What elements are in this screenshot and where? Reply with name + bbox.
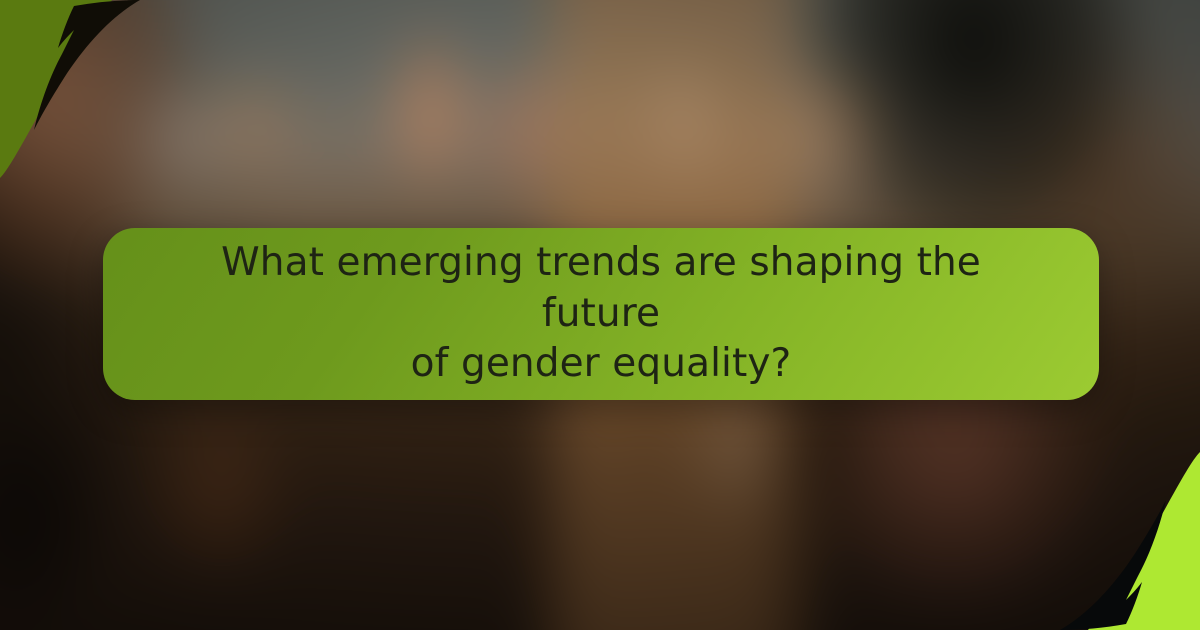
question-card: What emerging trends are shaping the fut… [103, 228, 1099, 400]
question-text: What emerging trends are shaping the fut… [157, 238, 1045, 390]
share-card-canvas: What emerging trends are shaping the fut… [0, 0, 1200, 630]
